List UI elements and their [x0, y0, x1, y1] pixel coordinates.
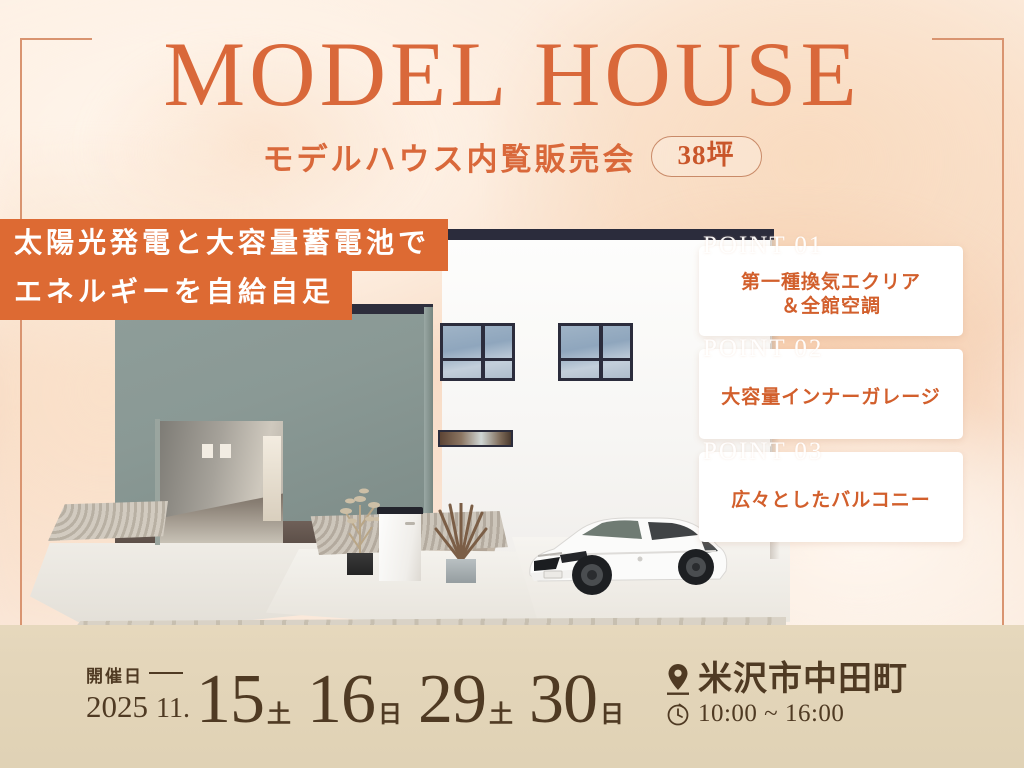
venue-block: 米沢市中田町 10:00 ~ 16:00 [666, 663, 908, 730]
grass-plant [432, 503, 490, 583]
event-day-3-number: 29 [418, 668, 486, 731]
location-pin-icon [666, 663, 690, 697]
point-card-3[interactable]: POINT 03 広々としたバルコニー [699, 452, 963, 542]
event-date-block: 開催日 2025 11. 15 土 16 日 [86, 662, 640, 731]
page-title: MODEL HOUSE [0, 28, 1024, 120]
poster-root: MODEL HOUSE モデルハウス内覧販売会 38坪 [0, 0, 1024, 768]
carport-far-light [263, 436, 281, 521]
event-day-4-weekday: 日 [600, 694, 624, 729]
bottom-info-inner: 開催日 2025 11. 15 土 16 日 [0, 625, 1024, 768]
point-text-2: 大容量インナーガレージ [721, 378, 941, 410]
bottom-info-bar: 開催日 2025 11. 15 土 16 日 [0, 625, 1024, 768]
window-upper-left [440, 323, 515, 381]
event-day-2-weekday: 日 [378, 694, 402, 729]
window-upper-right [558, 323, 633, 381]
event-year: 2025 [86, 689, 148, 725]
venue-time-row: 10:00 ~ 16:00 [666, 701, 908, 726]
venue-time-text: 10:00 ~ 16:00 [698, 701, 844, 726]
header: MODEL HOUSE モデルハウス内覧販売会 38坪 [0, 28, 1024, 179]
carport-slit-windows [202, 444, 231, 458]
banner-line-1: 太陽光発電と大容量蓄電池で [0, 219, 448, 271]
clock-icon [666, 702, 690, 726]
year-month-row: 2025 11. [86, 689, 190, 725]
battery-storage-unit [379, 513, 421, 581]
event-day-4-number: 30 [529, 668, 597, 731]
point-card-1[interactable]: POINT 01 第一種換気エクリア ＆全館空調 [699, 246, 963, 336]
label-dash [149, 672, 183, 674]
venue-location-text: 米沢市中田町 [698, 663, 908, 697]
point-label-1: POINT 01 [703, 233, 823, 258]
event-day-1: 15 土 [196, 668, 291, 731]
event-day-2: 16 日 [307, 668, 402, 731]
plant-pot-dark [347, 553, 373, 575]
subtitle-row: モデルハウス内覧販売会 38坪 [0, 134, 1024, 179]
size-badge: 38坪 [651, 136, 762, 177]
point-cards: POINT 01 第一種換気エクリア ＆全館空調 POINT 02 大容量インナ… [699, 246, 963, 555]
venue-location-row: 米沢市中田町 [666, 663, 908, 697]
point-label-3: POINT 03 [703, 439, 823, 464]
event-day-2-number: 16 [307, 668, 375, 731]
point-text-3: 広々としたバルコニー [731, 481, 931, 513]
banner-line-2: エネルギーを自給自足 [0, 268, 352, 320]
event-day-1-number: 15 [196, 668, 264, 731]
point-text-1: 第一種換気エクリア ＆全館空調 [741, 263, 921, 320]
gravel-bed-left [48, 501, 168, 541]
event-day-3: 29 土 [418, 668, 513, 731]
event-day-4: 30 日 [529, 668, 624, 731]
event-day-1-weekday: 土 [267, 694, 291, 729]
page-subtitle: モデルハウス内覧販売会 [263, 134, 637, 179]
event-date-label: 開催日 [86, 662, 143, 687]
event-day-3-weekday: 土 [489, 694, 513, 729]
point-card-2[interactable]: POINT 02 大容量インナーガレージ [699, 349, 963, 439]
event-days: 15 土 16 日 29 土 30 日 [196, 668, 640, 731]
grass-icon [432, 503, 490, 563]
event-date-label-row: 開催日 [86, 662, 183, 687]
point-label-2: POINT 02 [703, 336, 823, 361]
event-month: 11. [156, 693, 190, 725]
plant-pot-grey [446, 559, 476, 583]
event-date-label-column: 開催日 2025 11. [86, 662, 190, 731]
window-slit [438, 430, 513, 447]
